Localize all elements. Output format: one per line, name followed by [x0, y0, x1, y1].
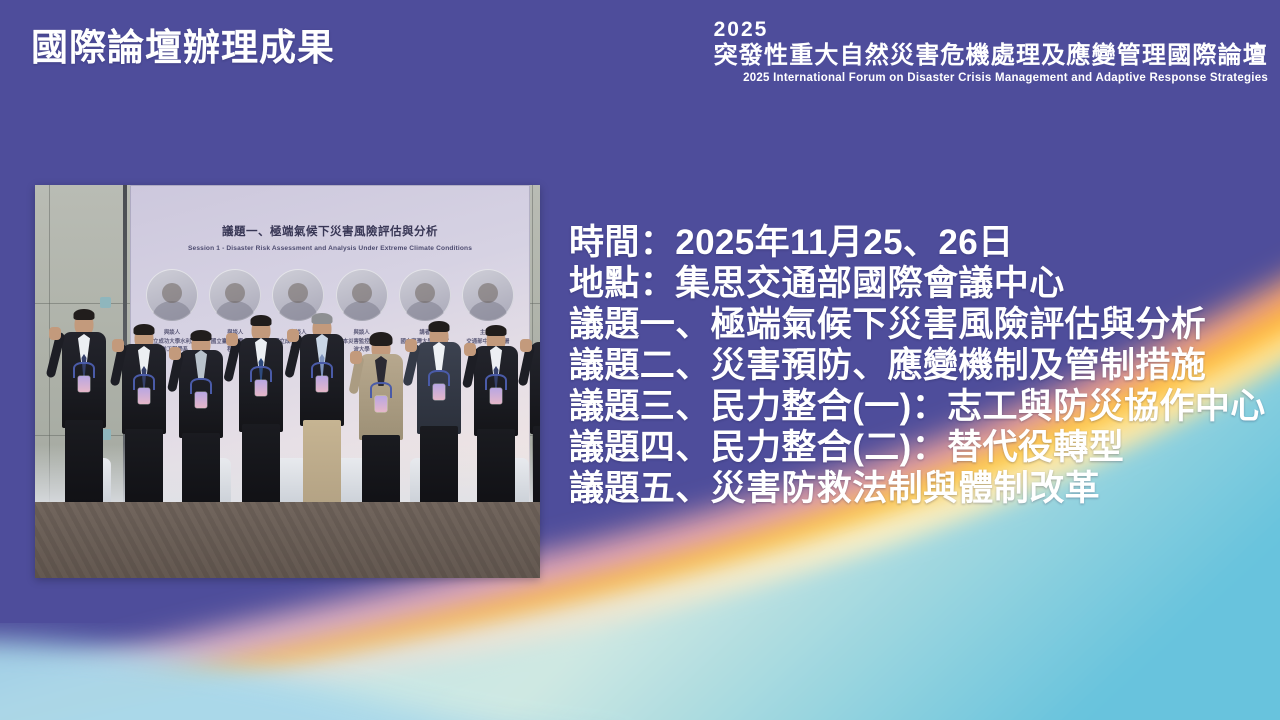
photo-content: 議題一、極端氣候下災害風險評估與分析 Session 1 - Disaster … — [35, 185, 540, 578]
forum-group-photo: 議題一、極端氣候下災害風險評估與分析 Session 1 - Disaster … — [35, 185, 540, 578]
session-title-en: Session 1 - Disaster Risk Assessment and… — [130, 245, 530, 252]
logo-year: 2025 — [714, 18, 1268, 41]
group-of-speakers — [35, 268, 540, 518]
person — [115, 312, 173, 518]
info-line-topic-3: 議題三、民力整合(一)：志工與防災協作中心 — [569, 386, 1269, 427]
event-info-block: 時間：2025年11月25、26日 地點：集思交通部國際會議中心 議題一、極端氣… — [569, 222, 1269, 509]
page-title: 國際論壇辦理成果 — [31, 26, 335, 70]
carpet-floor — [35, 502, 540, 578]
info-line-topic-4: 議題四、民力整合(二)：替代役轉型 — [569, 427, 1269, 468]
info-line-topic-1: 議題一、極端氣候下災害風險評估與分析 — [569, 304, 1269, 345]
session-title-zh: 議題一、極端氣候下災害風險評估與分析 — [130, 223, 530, 239]
info-line-topic-2: 議題二、災害預防、應變機制及管制措施 — [569, 345, 1269, 386]
info-line-datetime: 時間：2025年11月25、26日 — [569, 222, 1269, 263]
info-line-venue: 地點：集思交通部國際會議中心 — [569, 263, 1269, 304]
person — [467, 314, 525, 518]
info-line-topic-5: 議題五、災害防救法制與體制改革 — [569, 468, 1269, 509]
person — [53, 296, 115, 518]
person — [291, 300, 353, 518]
logo-title-zh: 突發性重大自然災害危機處理及應變管理國際論壇 — [714, 42, 1268, 69]
person — [172, 318, 230, 518]
slide-root: 國際論壇辦理成果 2025 突發性重大自然災害危機處理及應變管理國際論壇 202… — [0, 0, 1280, 720]
person — [353, 322, 409, 518]
forum-logo-lockup: 2025 突發性重大自然災害危機處理及應變管理國際論壇 2025 Interna… — [714, 18, 1268, 86]
person — [523, 310, 540, 518]
person — [230, 302, 292, 518]
logo-title-en: 2025 International Forum on Disaster Cri… — [714, 71, 1268, 86]
person — [409, 310, 469, 518]
